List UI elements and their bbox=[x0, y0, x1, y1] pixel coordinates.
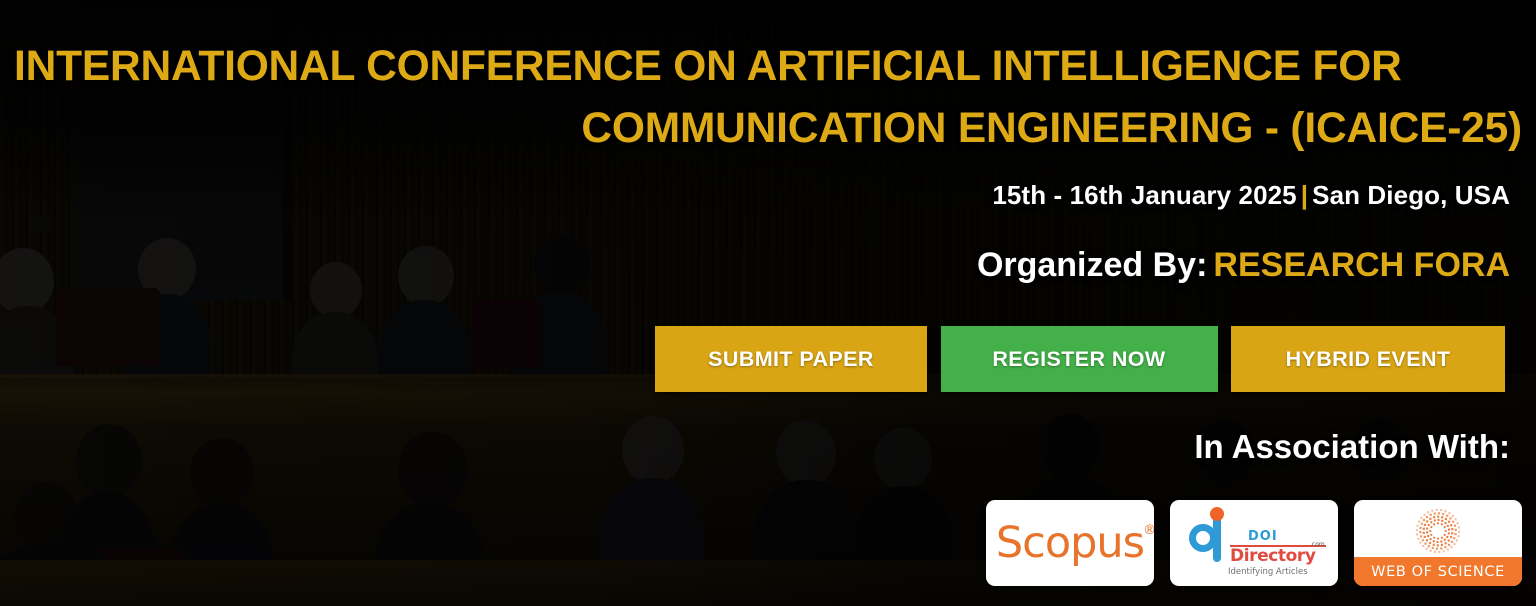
event-date-location: 15th - 16th January 2025|San Diego, USA bbox=[992, 180, 1510, 211]
partner-logo-doi-directory[interactable]: DOI Directory .com Identifying Articles bbox=[1170, 500, 1338, 586]
wos-logo-wrap: WEB OF SCIENCE bbox=[1354, 500, 1522, 586]
organizer-name: RESEARCH FORA bbox=[1207, 246, 1510, 284]
event-date: 15th - 16th January 2025 bbox=[992, 180, 1296, 210]
submit-paper-button[interactable]: SUBMIT PAPER bbox=[655, 326, 927, 392]
banner-content: INTERNATIONAL CONFERENCE ON ARTIFICIAL I… bbox=[0, 0, 1536, 606]
register-now-button[interactable]: REGISTER NOW bbox=[941, 326, 1218, 392]
partner-logo-scopus[interactable]: Scopus ® bbox=[986, 500, 1154, 586]
association-heading: In Association With: bbox=[1194, 428, 1510, 466]
scopus-wordmark-text: Scopus bbox=[996, 518, 1144, 568]
title-line-1: INTERNATIONAL CONFERENCE ON ARTIFICIAL I… bbox=[14, 36, 1522, 98]
cta-button-row: SUBMIT PAPER REGISTER NOW HYBRID EVENT bbox=[655, 326, 1505, 392]
event-location: San Diego, USA bbox=[1312, 180, 1510, 210]
doi-logo-wrap: DOI Directory .com Identifying Articles bbox=[1170, 500, 1338, 586]
scopus-wordmark: Scopus ® bbox=[996, 522, 1144, 565]
organized-by-label: Organized By: bbox=[977, 246, 1207, 284]
scopus-logo-wrap: Scopus ® bbox=[986, 500, 1154, 586]
organizer-line: Organized By:RESEARCH FORA bbox=[977, 246, 1510, 285]
title-line-2: COMMUNICATION ENGINEERING - (ICAICE-25) bbox=[14, 98, 1522, 160]
doi-tagline: Identifying Articles bbox=[1228, 567, 1308, 577]
wos-wordmark: WEB OF SCIENCE bbox=[1371, 564, 1505, 580]
hybrid-event-button[interactable]: HYBRID EVENT bbox=[1231, 326, 1505, 392]
wos-wordmark-bar: WEB OF SCIENCE bbox=[1354, 557, 1522, 586]
web-of-science-spiral-icon bbox=[1410, 507, 1466, 555]
doi-monogram-dot-icon bbox=[1210, 507, 1224, 521]
partner-logo-row: Scopus ® DOI Directory .com Identifying … bbox=[986, 500, 1522, 586]
doi-acronym: DOI bbox=[1248, 529, 1278, 544]
doi-wordmark: Directory bbox=[1230, 546, 1316, 566]
partner-logo-web-of-science[interactable]: WEB OF SCIENCE bbox=[1354, 500, 1522, 586]
page-title: INTERNATIONAL CONFERENCE ON ARTIFICIAL I… bbox=[14, 36, 1522, 161]
registered-trademark-icon: ® bbox=[1143, 524, 1154, 537]
conference-banner: INTERNATIONAL CONFERENCE ON ARTIFICIAL I… bbox=[0, 0, 1536, 606]
date-location-separator: | bbox=[1297, 180, 1312, 210]
doi-monogram-j-icon bbox=[1213, 520, 1221, 562]
doi-domain-suffix: .com bbox=[1310, 541, 1325, 548]
